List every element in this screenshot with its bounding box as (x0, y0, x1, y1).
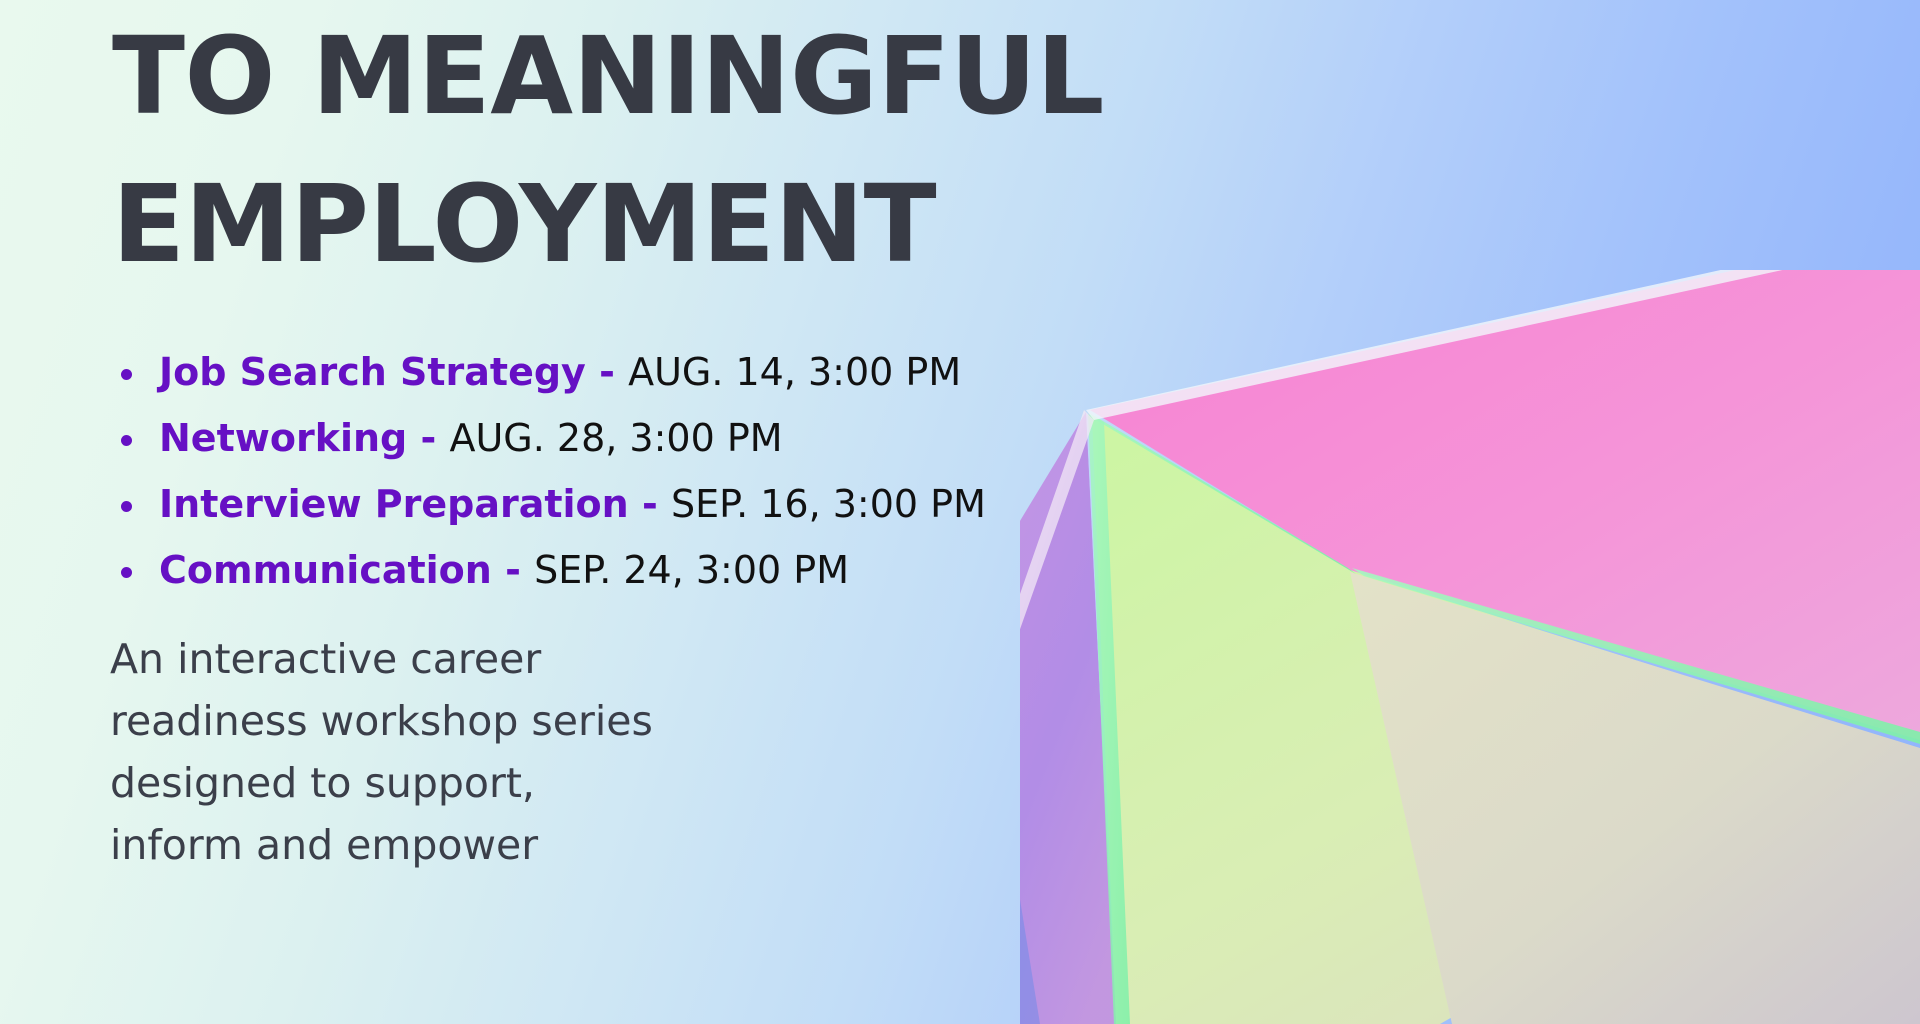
session-topic: Communication (159, 548, 492, 592)
session-datetime: AUG. 14, 3:00 PM (628, 350, 961, 394)
bullet-dot-icon (121, 435, 132, 446)
description-paragraph: An interactive career readiness workshop… (110, 628, 730, 876)
session-separator: - (492, 548, 534, 592)
session-datetime: SEP. 24, 3:00 PM (534, 548, 849, 592)
session-topic: Interview Preparation (159, 482, 629, 526)
session-separator: - (629, 482, 671, 526)
bullet-dot-icon (121, 369, 132, 380)
session-topic: Job Search Strategy (159, 350, 586, 394)
session-datetime: SEP. 16, 3:00 PM (671, 482, 986, 526)
page-title: TO MEANINGFUL EMPLOYMENT (112, 4, 1232, 299)
list-item: Interview Preparation - SEP. 16, 3:00 PM (112, 475, 1172, 534)
text-column: TO MEANINGFUL EMPLOYMENT Job Search Stra… (0, 0, 1180, 1024)
session-topic: Networking (159, 416, 407, 460)
list-item: Communication - SEP. 24, 3:00 PM (112, 541, 1172, 600)
list-item: Networking - AUG. 28, 3:00 PM (112, 409, 1172, 468)
bullet-dot-icon (121, 501, 132, 512)
poster-canvas: TO MEANINGFUL EMPLOYMENT Job Search Stra… (0, 0, 1920, 1024)
session-separator: - (407, 416, 449, 460)
bullet-dot-icon (121, 567, 132, 578)
list-item: Job Search Strategy - AUG. 14, 3:00 PM (112, 343, 1172, 402)
workshop-session-list: Job Search Strategy - AUG. 14, 3:00 PM N… (112, 343, 1172, 607)
session-datetime: AUG. 28, 3:00 PM (449, 416, 782, 460)
session-separator: - (586, 350, 628, 394)
